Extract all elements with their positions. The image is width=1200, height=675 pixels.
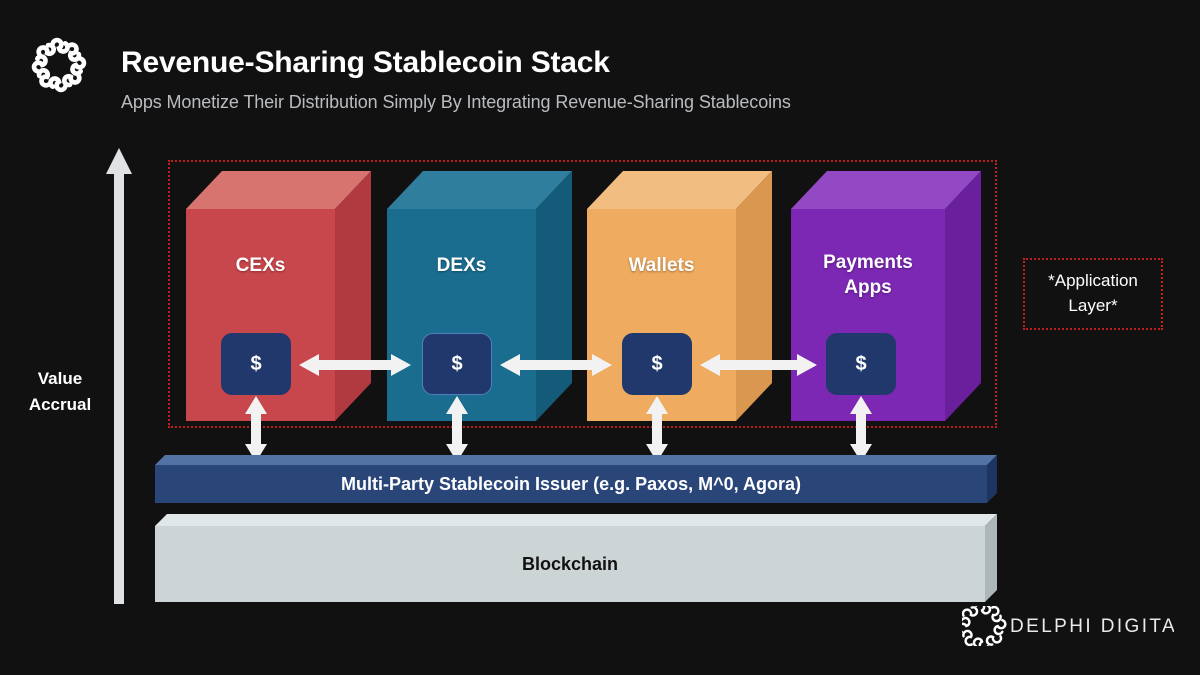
slab-top-face-blockchain	[155, 514, 997, 526]
slab-blockchain[interactable]: Blockchain	[155, 514, 997, 602]
connector-arrow-wallets-payments	[700, 353, 817, 377]
stablecoin-badge-payments-apps[interactable]: $	[826, 333, 896, 395]
page-title: Revenue-Sharing Stablecoin Stack	[121, 46, 610, 80]
app-box-label-wallets: Wallets	[587, 254, 736, 279]
connector-arrow-dexs-wallets	[500, 353, 612, 377]
application-layer-note: *Application Layer*	[1023, 258, 1163, 330]
connector-arrow-payments-issuer	[849, 396, 873, 462]
value-accrual-label: Value Accrual	[10, 366, 110, 417]
app-box-label-payments-apps: Payments Apps	[791, 251, 945, 300]
connector-arrow-dexs-issuer	[445, 396, 469, 462]
app-box-payments-apps[interactable]: Payments Apps $	[791, 171, 981, 427]
connector-arrow-cexs-dexs	[299, 353, 411, 377]
stablecoin-badge-text-cexs: $	[250, 353, 261, 376]
slab-label-blockchain: Blockchain	[155, 526, 985, 602]
diagram-canvas: Revenue-Sharing Stablecoin Stack Apps Mo…	[0, 0, 1200, 675]
app-box-wallets[interactable]: Wallets $	[587, 171, 772, 427]
slab-side-face-blockchain	[985, 514, 997, 602]
footer-logo: DELPHI DIGITAL	[962, 606, 1174, 646]
connector-arrow-cexs-issuer	[244, 396, 268, 462]
stablecoin-badge-text-dexs: $	[451, 353, 462, 376]
value-accrual-line2: Accrual	[10, 392, 110, 418]
application-layer-note-line2: Layer*	[1048, 294, 1138, 319]
stablecoin-badge-cexs[interactable]: $	[221, 333, 291, 395]
delphi-ring-icon	[28, 34, 90, 96]
stablecoin-badge-wallets[interactable]: $	[622, 333, 692, 395]
box-side-face-wallets	[736, 171, 772, 421]
app-box-label-payments-line2: Apps	[791, 276, 945, 301]
box-side-face-payments	[945, 171, 981, 421]
stablecoin-badge-dexs[interactable]: $	[422, 333, 492, 395]
value-accrual-line1: Value	[10, 366, 110, 392]
box-side-face-dexs	[536, 171, 572, 421]
slab-issuer[interactable]: Multi-Party Stablecoin Issuer (e.g. Paxo…	[155, 455, 997, 503]
app-box-label-cexs: CEXs	[186, 254, 335, 279]
app-box-cexs[interactable]: CEXs $	[186, 171, 371, 427]
page-subtitle: Apps Monetize Their Distribution Simply …	[121, 92, 791, 113]
app-box-dexs[interactable]: DEXs $	[387, 171, 572, 427]
application-layer-note-line1: *Application	[1048, 269, 1138, 294]
stablecoin-badge-text-wallets: $	[651, 353, 662, 376]
slab-label-issuer: Multi-Party Stablecoin Issuer (e.g. Paxo…	[155, 465, 987, 503]
stablecoin-badge-text-payments: $	[855, 353, 866, 376]
svg-text:DELPHI DIGITAL: DELPHI DIGITAL	[1010, 616, 1174, 637]
slab-top-face-issuer	[155, 455, 997, 465]
connector-arrow-wallets-issuer	[645, 396, 669, 462]
app-box-label-payments-line1: Payments	[791, 251, 945, 276]
box-side-face-cexs	[335, 171, 371, 421]
app-box-label-dexs: DEXs	[387, 254, 536, 279]
